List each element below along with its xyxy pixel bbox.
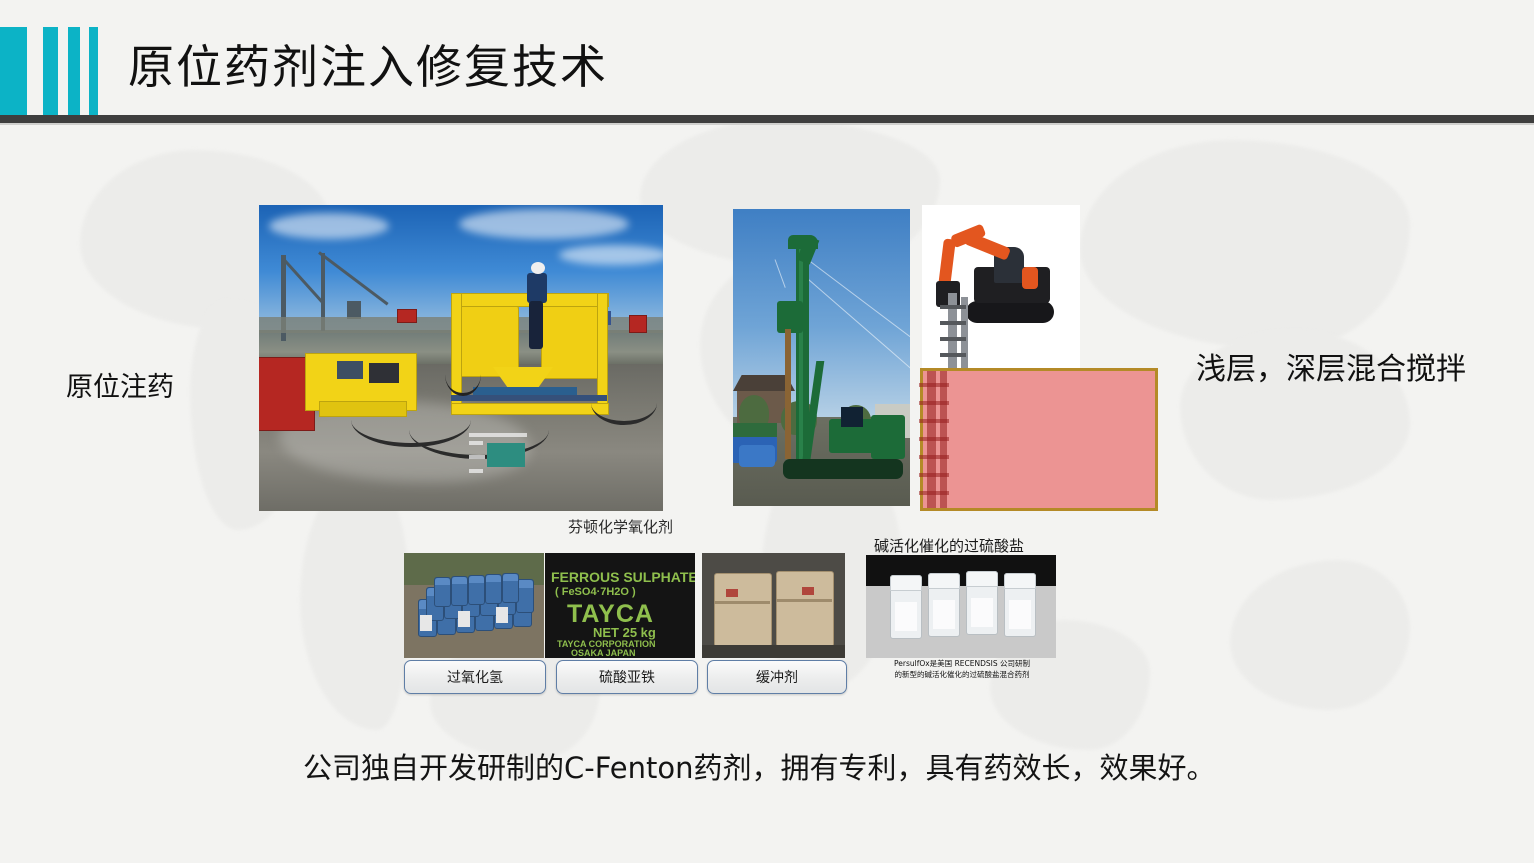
auger-tooth-2 <box>940 321 966 325</box>
auger-tooth-3 <box>940 337 966 341</box>
caption-fenton-oxidant: 芬顿化学氧化剂 <box>568 516 673 537</box>
drum <box>434 577 451 607</box>
sack-right <box>776 571 834 647</box>
jars-note-line-2: 的新型的碱活化催化的过硫酸盐混合药剂 <box>868 669 1056 680</box>
accent-bar-4 <box>89 27 98 115</box>
page-title: 原位药剂注入修复技术 <box>128 31 608 97</box>
photo-text-line-4 <box>469 469 483 473</box>
jars-note: PersulfOx是美国 RECENDSIS 公司研制 的新型的碱活化催化的过硫… <box>868 658 1056 680</box>
valve-pipe <box>473 387 577 395</box>
overlay-auger-tooth-2 <box>919 401 949 405</box>
jars-note-line-1: PersulfOx是美国 RECENDSIS 公司研制 <box>868 658 1056 669</box>
accent-bar-2 <box>43 27 58 115</box>
worker-helmet <box>531 262 545 274</box>
photo-green-plate <box>487 443 525 467</box>
blue-tarp-2 <box>739 445 775 467</box>
green-fence <box>733 423 777 437</box>
sample-jar <box>966 571 998 635</box>
sack-seam-left <box>714 601 770 604</box>
hose-4 <box>591 381 657 425</box>
accent-bar-1 <box>0 27 27 115</box>
rig-crawler-track <box>783 459 903 479</box>
sample-jar <box>928 573 960 637</box>
auger-tooth-1 <box>940 305 966 309</box>
sample-jar <box>890 575 922 639</box>
drum-label <box>420 615 432 631</box>
header-divider-light <box>0 123 1534 125</box>
hose-2 <box>409 401 549 459</box>
worker-legs <box>529 301 543 349</box>
drum <box>485 574 502 604</box>
sack-pallet-shadow <box>702 645 845 658</box>
bag-text-city: OSAKA JAPAN <box>571 648 636 658</box>
sample-jar <box>1004 573 1036 637</box>
pink-highlight-overlay <box>920 368 1158 511</box>
photo-text-line-2 <box>469 441 483 445</box>
sack-seam-right <box>776 599 832 602</box>
rig-counterweight <box>871 415 905 459</box>
site-container-red <box>397 309 417 323</box>
rig-mast-highlight <box>799 241 803 467</box>
header-divider <box>0 115 1534 123</box>
photo-chemical-drums <box>404 553 544 658</box>
drum <box>502 573 519 603</box>
photo-text-line-1 <box>469 433 527 437</box>
slide-header: 原位药剂注入修复技术 <box>0 0 1534 122</box>
accent-bar-3 <box>68 27 80 115</box>
drill-rod <box>785 329 791 459</box>
excavator-counterweight <box>1022 267 1038 289</box>
photo-sample-jars <box>866 555 1056 658</box>
photo-injection-plant <box>259 205 663 511</box>
auger-tooth-4 <box>940 353 966 357</box>
excavator-track <box>966 301 1054 323</box>
overlay-auger-tooth-7 <box>919 491 949 495</box>
overlay-auger-tooth-5 <box>919 455 949 459</box>
drum-label <box>496 607 508 623</box>
photo-buffer-sacks <box>702 553 845 658</box>
slide-canvas: 原位药剂注入修复技术 原位注药 <box>0 0 1534 863</box>
sack-left <box>714 573 772 647</box>
overlay-auger-tooth-6 <box>919 473 949 477</box>
bag-text-brand-cn: FERROUS SULPHATE <box>551 569 695 585</box>
overlay-auger-tooth-1 <box>919 383 949 387</box>
photo-text-line-3 <box>469 455 485 459</box>
reagent-label-hydrogen-peroxide[interactable]: 过氧化氢 <box>404 660 546 694</box>
rig-cab <box>841 407 863 427</box>
drum-label <box>458 611 470 627</box>
photo-excavator <box>922 205 1080 370</box>
reagent-label-buffer[interactable]: 缓冲剂 <box>707 660 847 694</box>
photo-ferrous-sulphate-bag: FERROUS SULPHATE ( FeSO4·7H2O ) TAYCA NE… <box>545 553 695 658</box>
cabin-window <box>337 361 363 379</box>
caption-persulfate: 碱活化催化的过硫酸盐 <box>874 535 1024 556</box>
site-container-red-2 <box>629 315 647 333</box>
drum <box>468 575 485 605</box>
cabin-engine <box>369 363 399 383</box>
overlay-auger-tooth-3 <box>919 419 949 423</box>
sack-stamp-right <box>802 587 814 595</box>
bag-text-formula: ( FeSO4·7H2O ) <box>555 586 636 598</box>
drum <box>451 576 468 606</box>
right-process-label: 浅层，深层混合搅拌 <box>1196 344 1466 388</box>
overlay-auger-tooth-4 <box>919 437 949 441</box>
photo-drill-rig <box>733 209 910 506</box>
worker-torso <box>527 273 547 303</box>
hose-3 <box>445 353 481 396</box>
left-process-label: 原位注药 <box>66 365 174 404</box>
bottom-caption: 公司独自开发研制的C-Fenton药剂，拥有专利，具有药效长，效果好。 <box>303 745 1216 787</box>
sack-stamp-left <box>726 589 738 597</box>
reagent-label-ferrous-sulfate[interactable]: 硫酸亚铁 <box>556 660 698 694</box>
bag-text-weight: NET 25 kg <box>593 625 656 640</box>
